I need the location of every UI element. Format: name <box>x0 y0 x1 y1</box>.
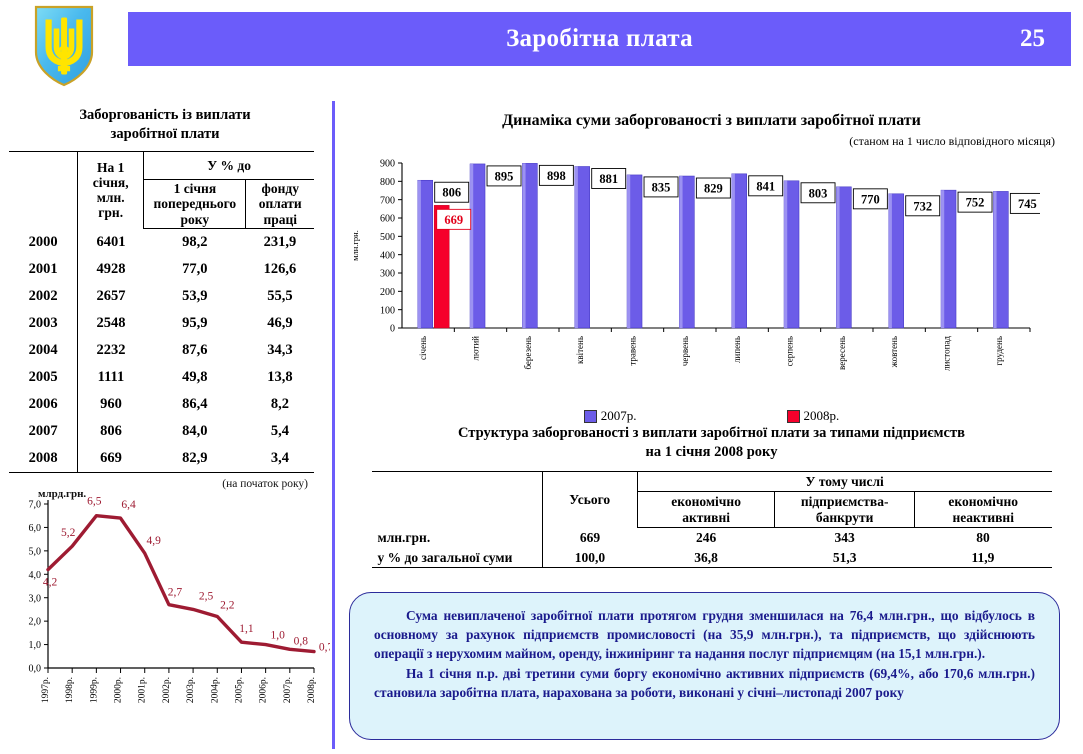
table-row: 2004 2232 87,6 34,3 <box>9 337 314 364</box>
svg-text:2003р.: 2003р. <box>186 677 196 703</box>
bottom-header-row-1: Усього У тому числі <box>372 471 1052 492</box>
cell-pct-fund: 231,9 <box>246 228 314 256</box>
svg-text:669: 669 <box>444 213 463 227</box>
cell-total: 669 <box>542 528 637 548</box>
cell-year: 2008 <box>9 445 78 473</box>
svg-text:5,0: 5,0 <box>29 546 42 557</box>
cell-pct-prev: 49,8 <box>144 364 246 391</box>
svg-text:400: 400 <box>380 250 395 261</box>
svg-text:300: 300 <box>380 269 395 280</box>
svg-text:835: 835 <box>652 180 671 194</box>
svg-text:2,2: 2,2 <box>220 599 235 611</box>
svg-text:745: 745 <box>1018 197 1037 211</box>
cell-amount: 2548 <box>78 310 144 337</box>
cell-pct-prev: 87,6 <box>144 337 246 364</box>
svg-text:1,0: 1,0 <box>270 630 285 642</box>
bottom-header-bankrupt: підприємства-банкрути <box>775 492 915 528</box>
cell-active: 246 <box>637 528 775 548</box>
bar-chart-debt-dynamics: Динаміка суми заборгованості з виплати з… <box>340 104 1083 424</box>
cell-inactive: 11,9 <box>914 548 1051 568</box>
cell-pct-fund: 126,6 <box>246 256 314 283</box>
svg-text:березень: березень <box>523 336 533 370</box>
bottom-table-title-line2: на 1 січня 2008 року <box>646 444 778 460</box>
table-row: 2002 2657 53,9 55,5 <box>9 283 314 310</box>
cell-pct-prev: 82,9 <box>144 445 246 473</box>
table-row: 2003 2548 95,9 46,9 <box>9 310 314 337</box>
header-amount: На 1 січня, млн. грн. <box>78 152 144 229</box>
header-group-percent: У % до <box>144 152 314 180</box>
svg-text:1,0: 1,0 <box>29 640 42 651</box>
svg-text:листопад: листопад <box>942 336 952 371</box>
legend-item-2008: 2008р. <box>787 408 840 424</box>
bar-chart-subtitle: (станом на 1 число відповідного місяця) <box>340 134 1055 149</box>
svg-text:6,0: 6,0 <box>29 523 42 534</box>
cell-year: 2006 <box>9 391 78 418</box>
svg-text:600: 600 <box>380 214 395 225</box>
cell-active: 36,8 <box>637 548 775 568</box>
cell-row-label: млн.грн. <box>372 528 543 548</box>
left-panel: Заборгованість із виплати заробітної пла… <box>0 106 330 473</box>
table-row: 2008 669 82,9 3,4 <box>9 445 314 473</box>
table-row: 2001 4928 77,0 126,6 <box>9 256 314 283</box>
legend-item-2007: 2007р. <box>584 408 637 424</box>
cell-year: 2001 <box>9 256 78 283</box>
bottom-header-group: У тому числі <box>637 471 1051 492</box>
svg-text:806: 806 <box>442 186 461 200</box>
svg-text:752: 752 <box>966 196 985 210</box>
svg-text:800: 800 <box>380 177 395 188</box>
cell-total: 100,0 <box>542 548 637 568</box>
svg-text:2004р.: 2004р. <box>210 677 220 703</box>
svg-text:2008р.: 2008р. <box>307 677 317 703</box>
svg-text:червень: червень <box>680 336 690 366</box>
debt-by-year-table: На 1 січня, млн. грн. У % до 1 січня поп… <box>9 151 314 473</box>
svg-text:2,5: 2,5 <box>199 590 214 602</box>
cell-amount: 2657 <box>78 283 144 310</box>
svg-text:829: 829 <box>704 182 723 196</box>
svg-text:0,0: 0,0 <box>29 664 42 675</box>
cell-year: 2003 <box>9 310 78 337</box>
svg-text:732: 732 <box>913 199 932 213</box>
cell-amount: 2232 <box>78 337 144 364</box>
cell-amount: 806 <box>78 418 144 445</box>
svg-text:2002р.: 2002р. <box>162 677 172 703</box>
cell-pct-prev: 84,0 <box>144 418 246 445</box>
cell-pct-fund: 34,3 <box>246 337 314 364</box>
cell-pct-prev: 53,9 <box>144 283 246 310</box>
table-row: 2000 6401 98,2 231,9 <box>9 228 314 256</box>
cell-year: 2000 <box>9 228 78 256</box>
svg-text:4,2: 4,2 <box>43 577 58 589</box>
structure-table-section: Структура заборгованості з виплати зароб… <box>340 424 1083 568</box>
svg-text:898: 898 <box>547 169 566 183</box>
svg-text:2,0: 2,0 <box>29 617 42 628</box>
header-empty-corner <box>9 152 78 229</box>
svg-text:2001р.: 2001р. <box>138 677 148 703</box>
cell-bankrupt: 343 <box>775 528 915 548</box>
svg-text:4,9: 4,9 <box>147 535 162 547</box>
cell-year: 2005 <box>9 364 78 391</box>
svg-text:881: 881 <box>599 172 618 186</box>
bottom-table-title-line1: Структура заборгованості з виплати зароб… <box>458 425 965 441</box>
table-row: 2005 1111 49,8 13,8 <box>9 364 314 391</box>
legend-swatch-2008 <box>787 410 800 423</box>
summary-text: Сума невиплаченої заробітної плати протя… <box>350 593 1059 702</box>
svg-text:2,7: 2,7 <box>168 587 183 599</box>
svg-text:0: 0 <box>390 324 395 335</box>
line-chart-canvas: 0,01,02,03,04,05,06,07,01997р.1998р.1999… <box>4 478 330 740</box>
cell-pct-fund: 3,4 <box>246 445 314 473</box>
svg-text:2005р.: 2005р. <box>234 677 244 703</box>
cell-amount: 6401 <box>78 228 144 256</box>
bottom-table-title: Структура заборгованості з виплати зароб… <box>340 424 1083 462</box>
table-row: млн.грн. 669 246 343 80 <box>372 528 1052 548</box>
svg-text:3,0: 3,0 <box>29 593 42 604</box>
left-table-title-line2: заробітної плати <box>111 126 220 142</box>
svg-text:895: 895 <box>495 169 514 183</box>
legend-swatch-2007 <box>584 410 597 423</box>
svg-text:2007р.: 2007р. <box>283 677 293 703</box>
svg-text:500: 500 <box>380 232 395 243</box>
cell-pct-fund: 13,8 <box>246 364 314 391</box>
svg-text:1997р.: 1997р. <box>41 677 51 703</box>
cell-pct-fund: 46,9 <box>246 310 314 337</box>
svg-text:700: 700 <box>380 195 395 206</box>
svg-text:млн.грн.: млн.грн. <box>350 230 360 261</box>
svg-text:770: 770 <box>861 192 880 206</box>
cell-inactive: 80 <box>914 528 1051 548</box>
left-table-title: Заборгованість із виплати заробітної пла… <box>30 106 300 143</box>
svg-text:1,1: 1,1 <box>239 623 254 635</box>
svg-text:6,4: 6,4 <box>121 499 136 511</box>
line-chart-debt-start-of-year: млрд.грн. (на початок року) 0,01,02,03,0… <box>4 478 330 750</box>
cell-bankrupt: 51,3 <box>775 548 915 568</box>
svg-text:травень: травень <box>628 336 638 366</box>
svg-text:5,2: 5,2 <box>61 527 76 539</box>
table-row: 2007 806 84,0 5,4 <box>9 418 314 445</box>
table-row: у % до загальної суми 100,0 36,8 51,3 11… <box>372 548 1052 568</box>
summary-paragraph-1: Сума невиплаченої заробітної плати протя… <box>374 606 1035 663</box>
page-title: Заробітна плата <box>128 12 1071 66</box>
svg-text:1998р.: 1998р. <box>65 677 75 703</box>
cell-amount: 1111 <box>78 364 144 391</box>
summary-paragraph-2: На 1 січня п.р. дві третини суми боргу е… <box>374 664 1035 702</box>
bar-chart-canvas: 0100200300400500600700800900млн.грн.806с… <box>340 151 1040 406</box>
svg-text:січень: січень <box>418 336 428 360</box>
svg-text:лютий: лютий <box>471 336 481 361</box>
svg-text:0,7: 0,7 <box>319 642 330 654</box>
cell-pct-fund: 5,4 <box>246 418 314 445</box>
table-row: 2006 960 86,4 8,2 <box>9 391 314 418</box>
page-number: 25 <box>1020 12 1045 66</box>
bar-chart-legend: 2007р. 2008р. <box>340 408 1083 424</box>
svg-text:0,8: 0,8 <box>294 635 309 647</box>
svg-text:200: 200 <box>380 287 395 298</box>
left-table-title-line1: Заборгованість із виплати <box>79 107 250 123</box>
cell-year: 2007 <box>9 418 78 445</box>
cell-amount: 669 <box>78 445 144 473</box>
summary-callout-box: Сума невиплаченої заробітної плати протя… <box>349 592 1060 740</box>
svg-text:803: 803 <box>809 186 828 200</box>
cell-amount: 960 <box>78 391 144 418</box>
svg-text:900: 900 <box>380 159 395 170</box>
svg-text:2006р.: 2006р. <box>259 677 269 703</box>
line-chart-note: (на початок року) <box>222 478 308 490</box>
cell-pct-prev: 98,2 <box>144 228 246 256</box>
svg-text:2000р.: 2000р. <box>114 677 124 703</box>
legend-label-2008: 2008р. <box>804 408 840 424</box>
debt-structure-table: Усього У тому числі економічноактивні пі… <box>372 471 1052 569</box>
legend-label-2007: 2007р. <box>601 408 637 424</box>
svg-text:липень: липень <box>732 336 742 363</box>
cell-pct-fund: 8,2 <box>246 391 314 418</box>
ukraine-coat-of-arms-icon <box>32 4 96 88</box>
svg-text:100: 100 <box>380 305 395 316</box>
line-chart-ylabel: млрд.грн. <box>38 488 86 500</box>
bottom-header-corner <box>372 471 543 528</box>
svg-text:грудень: грудень <box>994 336 1004 366</box>
bar-chart-title: Динаміка суми заборгованості з виплати з… <box>340 112 1083 130</box>
header-pct-wage-fund: фонду оплати праці <box>246 180 314 229</box>
slide-header-bar: Заробітна плата 25 <box>128 12 1071 66</box>
svg-text:серпень: серпень <box>785 336 795 366</box>
svg-text:жовтень: жовтень <box>889 336 899 368</box>
cell-amount: 4928 <box>78 256 144 283</box>
slide-root: Заробітна плата 25 Заборгованість із вип… <box>0 0 1083 754</box>
svg-text:4,0: 4,0 <box>29 570 42 581</box>
cell-pct-prev: 95,9 <box>144 310 246 337</box>
cell-row-label: у % до загальної суми <box>372 548 543 568</box>
cell-year: 2004 <box>9 337 78 364</box>
header-pct-prev-year: 1 січня попереднього року <box>144 180 246 229</box>
table-header-row-1: На 1 січня, млн. грн. У % до <box>9 152 314 180</box>
cell-pct-fund: 55,5 <box>246 283 314 310</box>
bottom-header-active: економічноактивні <box>637 492 775 528</box>
cell-pct-prev: 86,4 <box>144 391 246 418</box>
svg-text:1999р.: 1999р. <box>89 677 99 703</box>
vertical-divider <box>332 101 335 749</box>
cell-year: 2002 <box>9 283 78 310</box>
svg-text:841: 841 <box>756 179 775 193</box>
svg-text:6,5: 6,5 <box>87 496 102 508</box>
bottom-header-total: Усього <box>542 471 637 528</box>
svg-text:вересень: вересень <box>837 336 847 370</box>
cell-pct-prev: 77,0 <box>144 256 246 283</box>
svg-text:квітень: квітень <box>575 336 585 364</box>
svg-text:7,0: 7,0 <box>29 500 42 511</box>
bottom-header-inactive: економічнонеактивні <box>914 492 1051 528</box>
